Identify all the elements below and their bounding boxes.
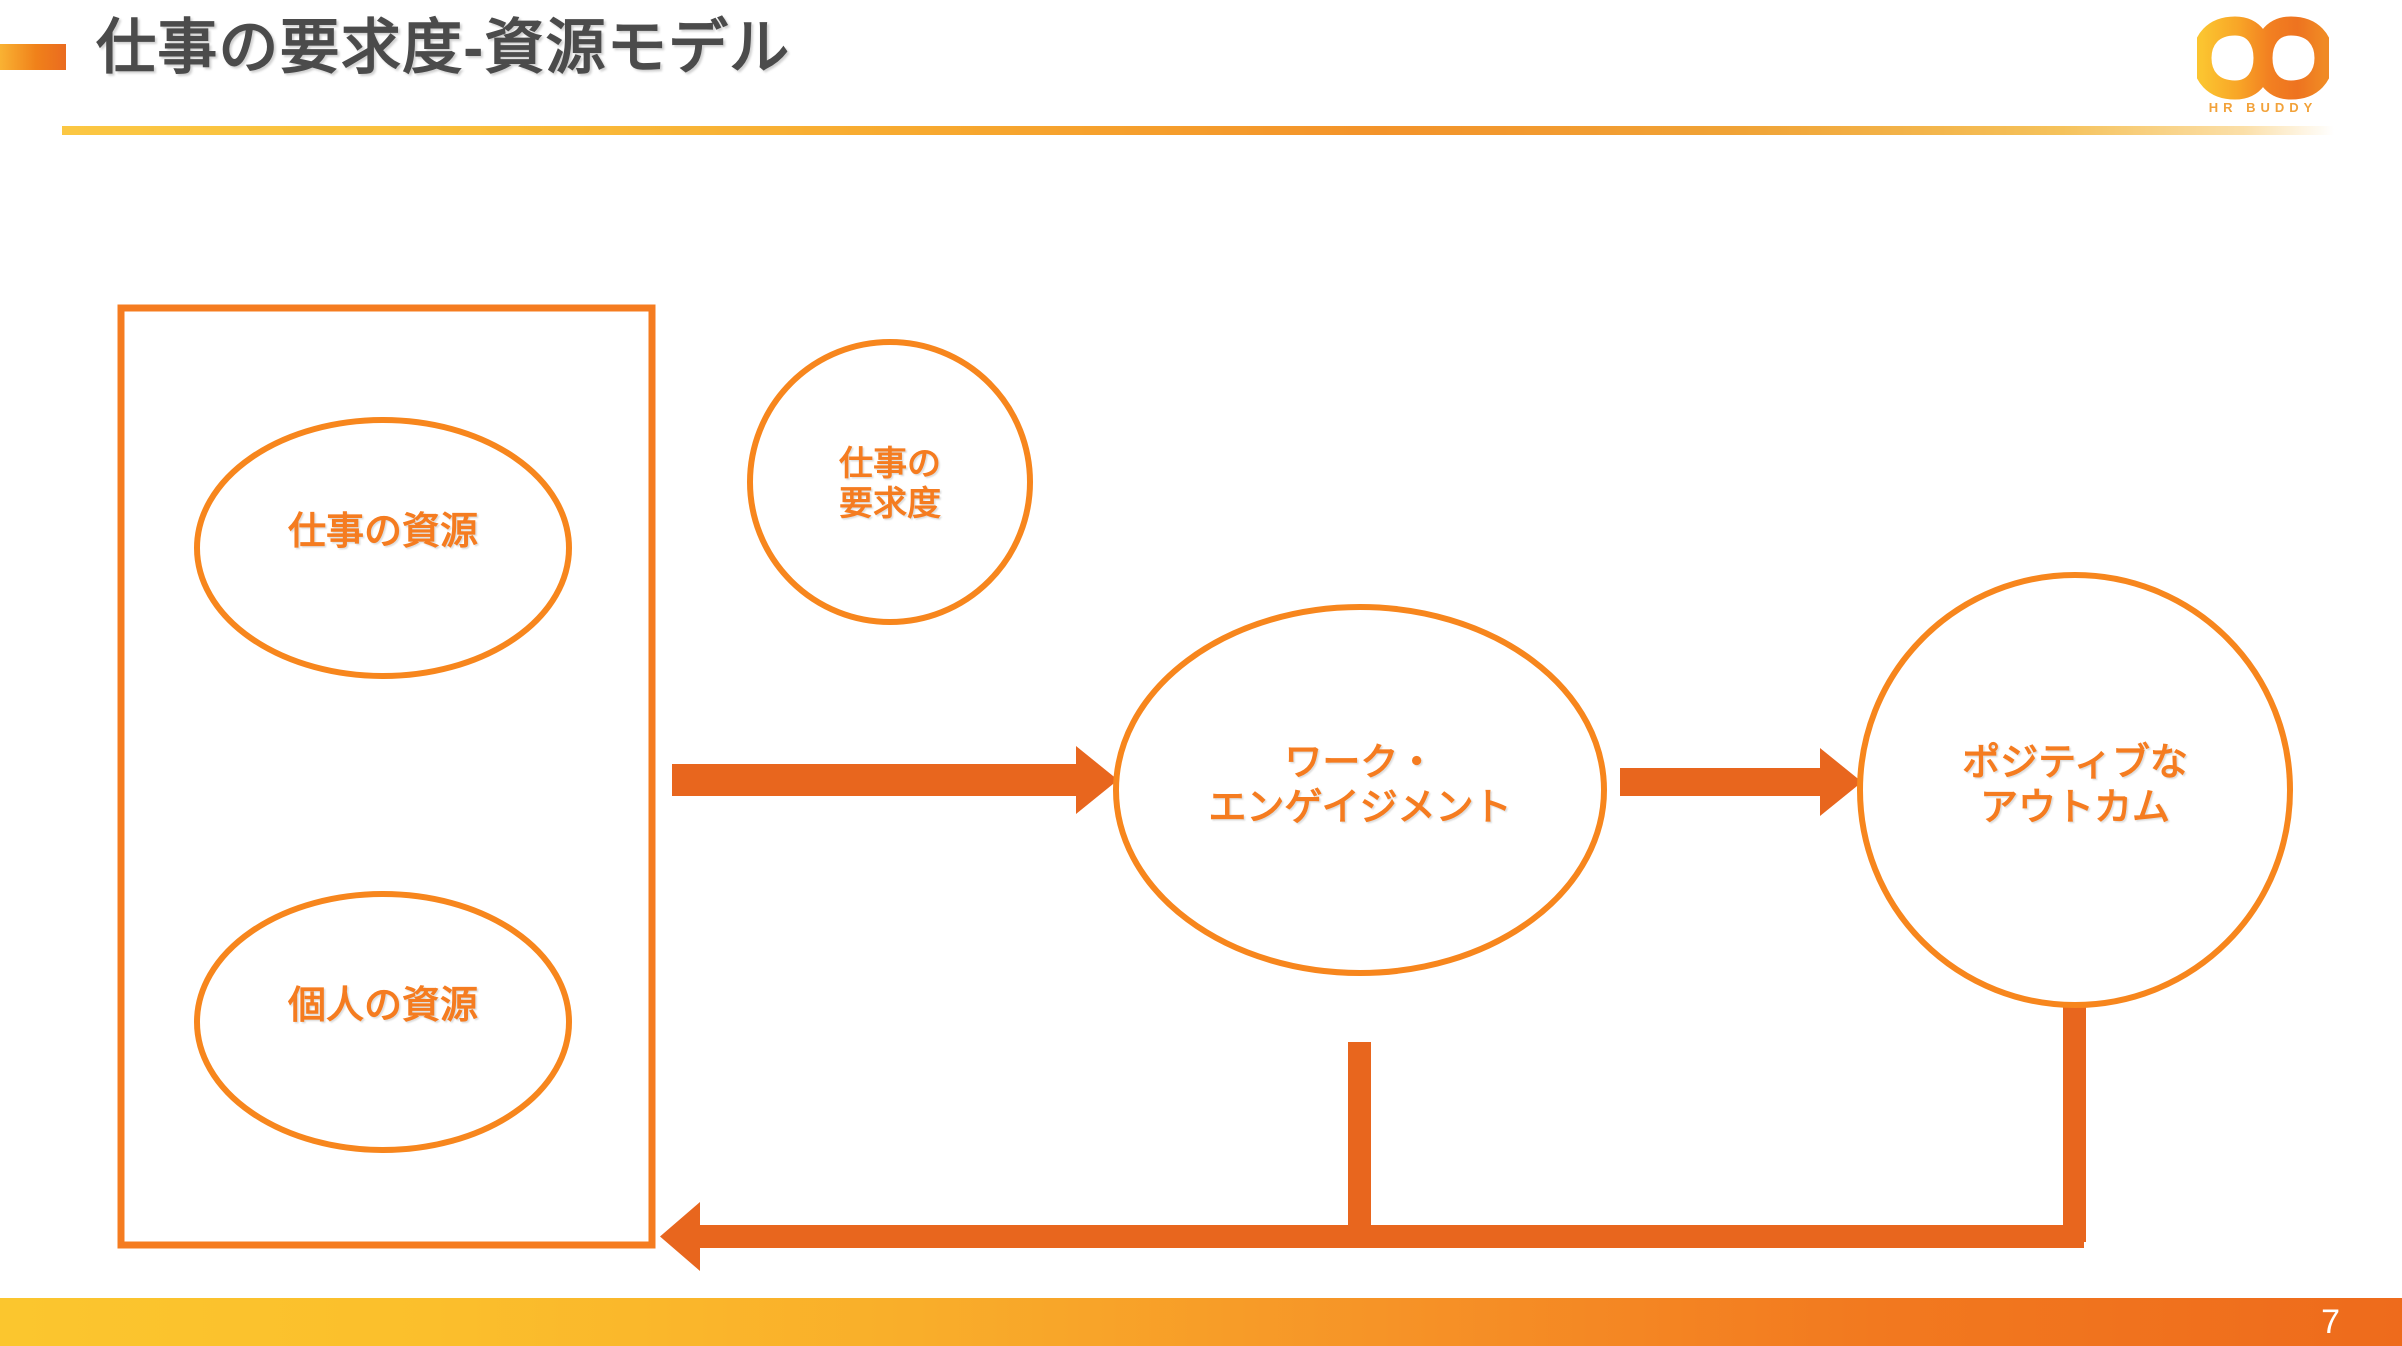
feedback-loop-edge (660, 1002, 2086, 1271)
page-title: 仕事の要求度-資源モデル (96, 18, 790, 78)
infinity-icon (2197, 16, 2329, 105)
diagram-canvas (0, 140, 2402, 1290)
brand-logo: HR BUDDY (2188, 16, 2338, 120)
page-number: 7 (2321, 1300, 2340, 1344)
node-job-demands (750, 342, 1030, 622)
brand-wordmark: HR BUDDY (2188, 100, 2338, 115)
node-positive-outcome (1860, 575, 2290, 1005)
resources-to-engagement-arrow (672, 746, 1118, 814)
jdr-model-diagram: 仕事の資源 個人の資源 仕事の 要求度 ワーク・ エンゲイジメント ポジティブな… (0, 140, 2402, 1290)
node-personal-resources (197, 894, 569, 1150)
header-accent-bar (0, 44, 66, 70)
node-job-resources (197, 420, 569, 676)
engagement-to-outcome-arrow (1620, 748, 1862, 816)
slide-header: 仕事の要求度-資源モデル HR BUDDY (0, 0, 2402, 140)
slide-footer: 7 (0, 1298, 2402, 1346)
header-divider (62, 126, 2334, 135)
node-work-engagement (1116, 607, 1604, 973)
